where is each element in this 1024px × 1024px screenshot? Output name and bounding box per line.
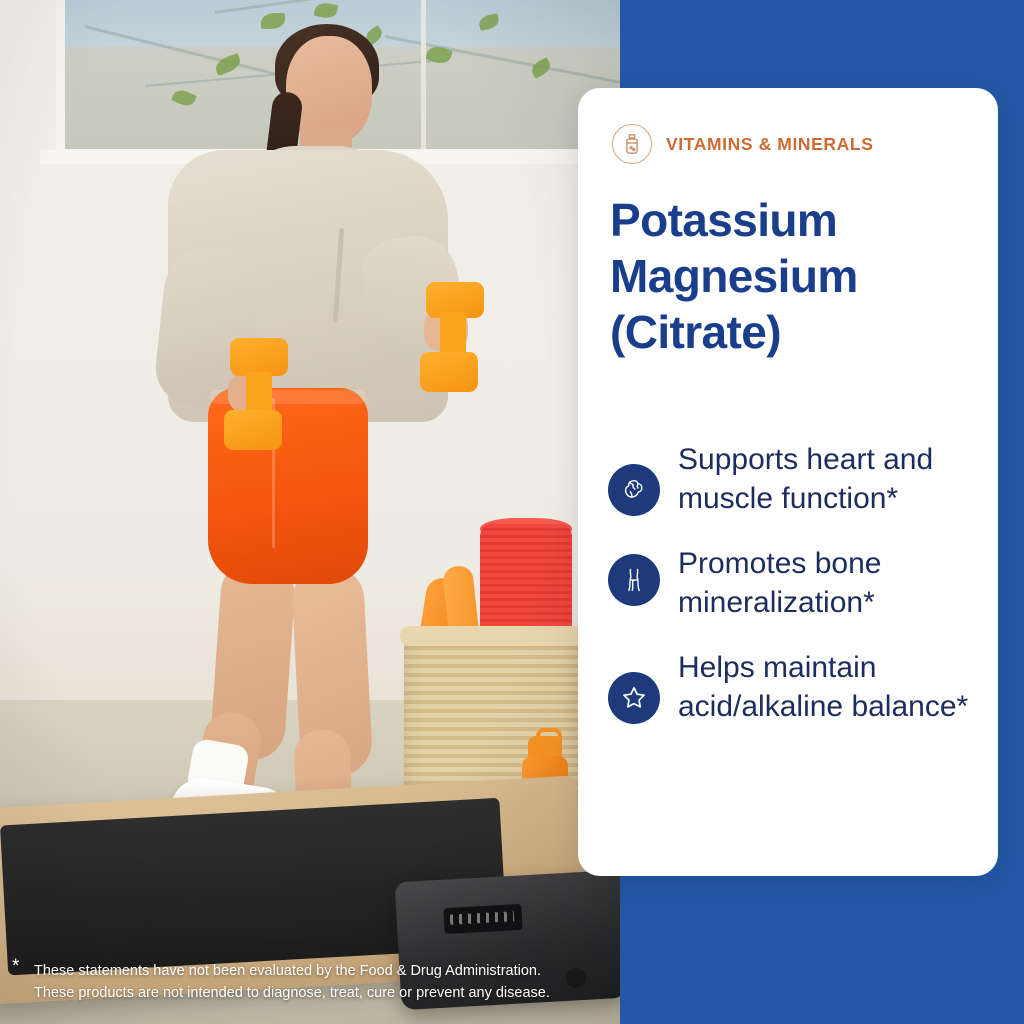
product-title-line-2: Magnesium [610,248,970,304]
fda-disclaimer: * These statements have not been evaluat… [12,960,612,1004]
star-icon [608,672,660,724]
benefit-list: Supports heart and muscle function* Prom… [608,440,978,752]
product-title: Potassium Magnesium (Citrate) [610,192,970,360]
photo-vignette [0,0,622,1024]
category-badge: VITAMINS & MINERALS [612,124,873,164]
disclaimer-line-2: These products are not intended to diagn… [34,982,612,1004]
benefit-item: Supports heart and muscle function* [608,440,978,518]
category-badge-label: VITAMINS & MINERALS [666,134,873,155]
product-marketing-image: * These statements have not been evaluat… [0,0,1024,1024]
benefit-text: Supports heart and muscle function* [678,440,978,518]
bone-joint-icon [608,554,660,606]
product-info-card: VITAMINS & MINERALS Potassium Magnesium … [578,88,998,876]
benefit-text: Promotes bone mineralization* [678,544,978,622]
heart-icon [608,464,660,516]
product-title-line-3: (Citrate) [610,304,970,360]
lifestyle-photo [0,0,622,1024]
disclaimer-line-1: These statements have not been evaluated… [34,960,612,982]
disclaimer-asterisk: * [12,957,19,976]
product-title-line-1: Potassium [610,192,970,248]
benefit-item: Promotes bone mineralization* [608,544,978,622]
benefit-text: Helps maintain acid/alkaline balance* [678,648,978,726]
supplement-bottle-icon [612,124,652,164]
benefit-item: Helps maintain acid/alkaline balance* [608,648,978,726]
